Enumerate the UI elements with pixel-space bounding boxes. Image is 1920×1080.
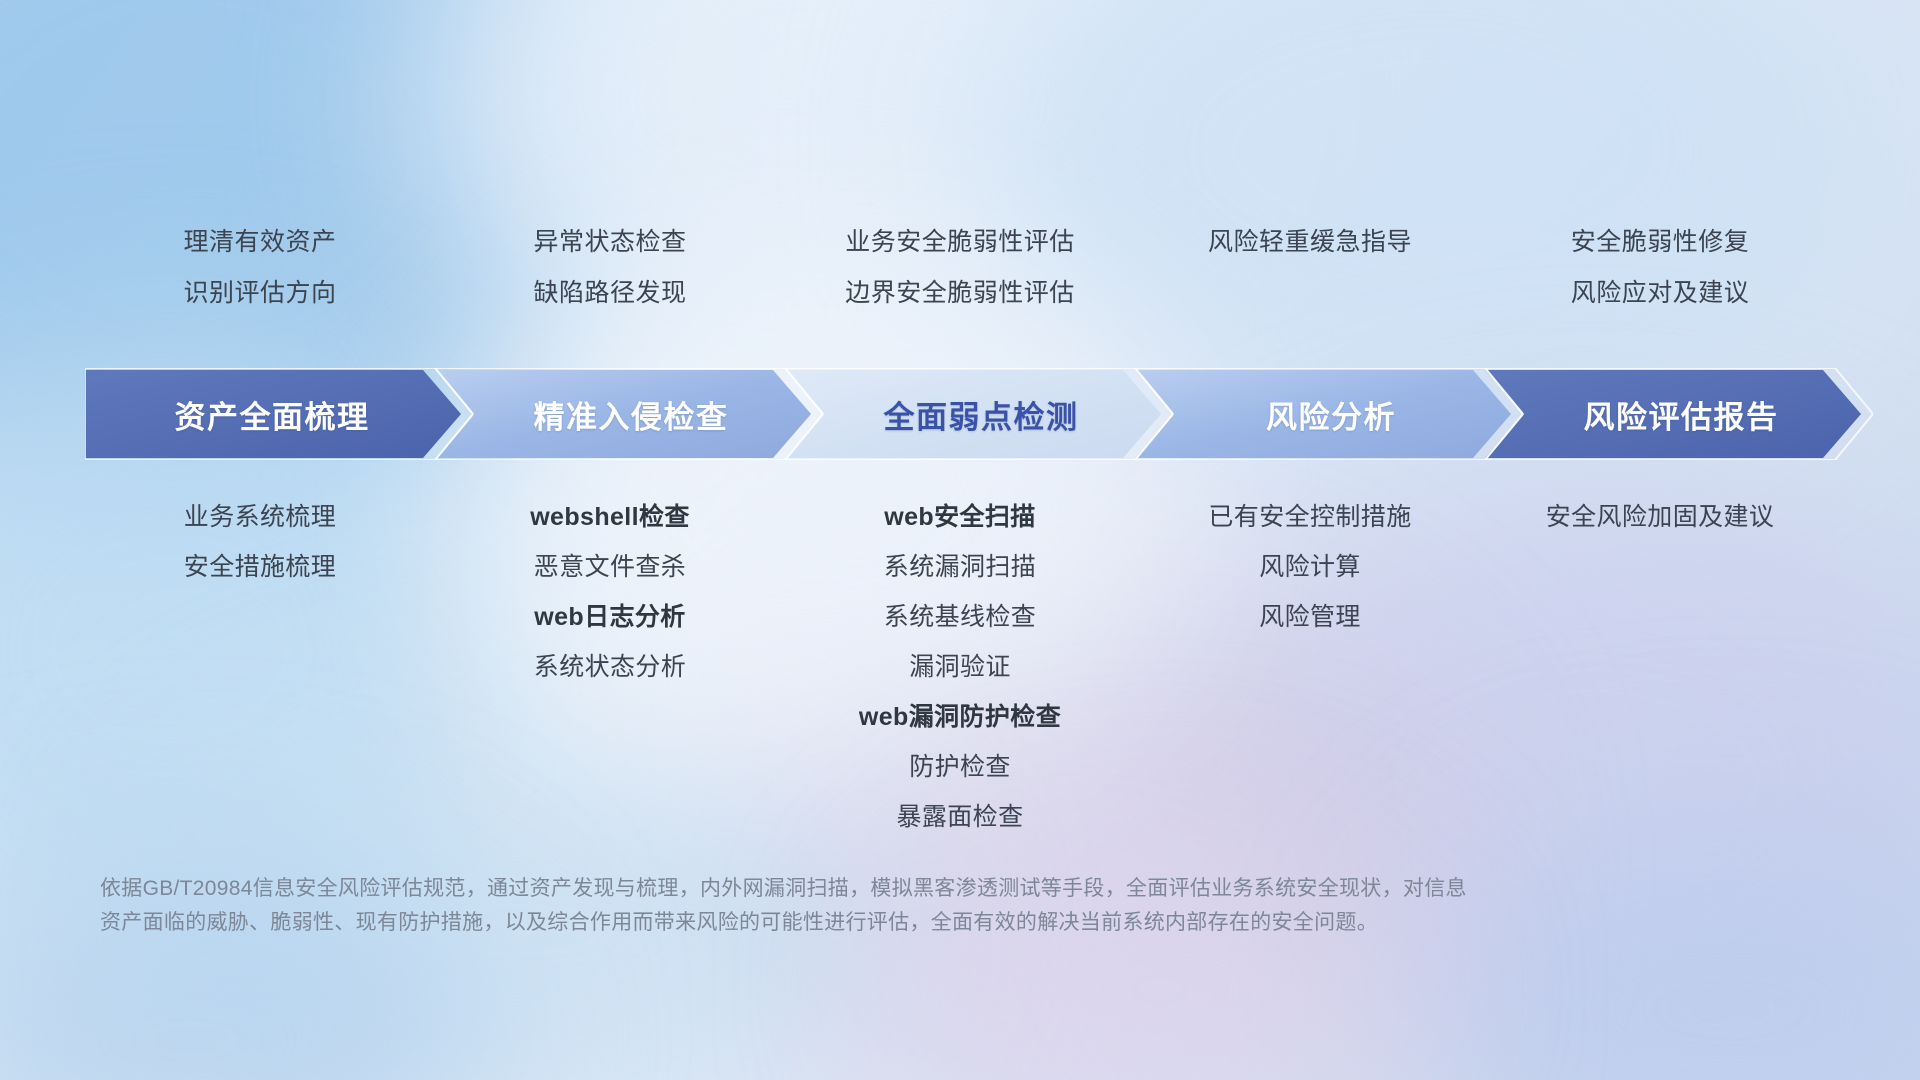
top-note: 风险应对及建议	[1571, 281, 1750, 306]
bottom-items-column: 安全风险加固及建议	[1485, 505, 1835, 855]
footer-description: 依据GB/T20984信息安全风险评估规范，通过资产发现与梳理，内外网漏洞扫描，…	[100, 872, 1740, 940]
top-note: 安全脆弱性修复	[1571, 230, 1750, 255]
process-step-label: 精准入侵检查	[534, 392, 729, 437]
process-step-label: 资产全面梳理	[175, 392, 370, 437]
bottom-item: 漏洞验证	[909, 655, 1011, 680]
process-step-label: 风险分析	[1266, 392, 1396, 437]
bottom-items-row: 业务系统梳理安全措施梳理webshell检查恶意文件查杀web日志分析系统状态分…	[85, 505, 1835, 855]
bottom-item: 恶意文件查杀	[534, 555, 686, 580]
footer-line-2: 资产面临的威胁、脆弱性、现有防护措施，以及综合作用而带来风险的可能性进行评估，全…	[100, 906, 1740, 940]
top-notes-column: 异常状态检查缺陷路径发现	[435, 230, 785, 306]
process-chevron-banner: 资产全面梳理精准入侵检查全面弱点检测风险分析风险评估报告	[85, 368, 1835, 460]
bottom-items-column: 业务系统梳理安全措施梳理	[85, 505, 435, 855]
top-note: 业务安全脆弱性评估	[845, 230, 1075, 255]
process-step-intrusion-check[interactable]: 精准入侵检查	[435, 368, 823, 460]
top-notes-column: 安全脆弱性修复风险应对及建议	[1485, 230, 1835, 306]
bottom-item: 安全措施梳理	[184, 555, 336, 580]
top-note: 缺陷路径发现	[533, 281, 686, 306]
bottom-item: web安全扫描	[884, 505, 1035, 530]
bottom-item: webshell检查	[530, 505, 690, 530]
process-step-weakness-detection[interactable]: 全面弱点检测	[785, 368, 1173, 460]
bottom-item: web漏洞防护检查	[859, 705, 1061, 730]
bottom-items-column: web安全扫描系统漏洞扫描系统基线检查漏洞验证web漏洞防护检查防护检查暴露面检…	[785, 505, 1135, 855]
bottom-item: 系统状态分析	[534, 655, 686, 680]
process-step-risk-analysis[interactable]: 风险分析	[1135, 368, 1523, 460]
process-step-risk-report[interactable]: 风险评估报告	[1485, 368, 1873, 460]
bottom-item: 风险计算	[1259, 555, 1361, 580]
top-notes-column: 业务安全脆弱性评估边界安全脆弱性评估	[785, 230, 1135, 306]
process-step-label: 风险评估报告	[1584, 392, 1779, 437]
bottom-item: 系统基线检查	[884, 605, 1036, 630]
bottom-item: 防护检查	[909, 755, 1011, 780]
top-notes-row: 理清有效资产识别评估方向异常状态检查缺陷路径发现业务安全脆弱性评估边界安全脆弱性…	[85, 230, 1835, 306]
bottom-items-column: webshell检查恶意文件查杀web日志分析系统状态分析	[435, 505, 785, 855]
top-note: 边界安全脆弱性评估	[845, 281, 1075, 306]
bottom-items-column: 已有安全控制措施风险计算风险管理	[1135, 505, 1485, 855]
process-step-label: 全面弱点检测	[884, 392, 1079, 437]
bottom-item: web日志分析	[534, 605, 685, 630]
footer-line-1: 依据GB/T20984信息安全风险评估规范，通过资产发现与梳理，内外网漏洞扫描，…	[100, 872, 1740, 906]
top-note: 识别评估方向	[183, 281, 336, 306]
top-notes-column: 风险轻重缓急指导	[1135, 230, 1485, 306]
bottom-item: 系统漏洞扫描	[884, 555, 1036, 580]
top-note: 风险轻重缓急指导	[1208, 230, 1412, 255]
bottom-item: 暴露面检查	[896, 805, 1023, 830]
top-note: 异常状态检查	[533, 230, 686, 255]
bottom-item: 业务系统梳理	[184, 505, 336, 530]
slide-canvas: 理清有效资产识别评估方向异常状态检查缺陷路径发现业务安全脆弱性评估边界安全脆弱性…	[0, 0, 1920, 1080]
process-step-asset-inventory[interactable]: 资产全面梳理	[85, 368, 473, 460]
bottom-item: 已有安全控制措施	[1208, 505, 1411, 530]
bottom-item: 安全风险加固及建议	[1546, 505, 1775, 530]
bottom-item: 风险管理	[1259, 605, 1361, 630]
top-note: 理清有效资产	[183, 230, 336, 255]
top-notes-column: 理清有效资产识别评估方向	[85, 230, 435, 306]
process-diagram: 理清有效资产识别评估方向异常状态检查缺陷路径发现业务安全脆弱性评估边界安全脆弱性…	[0, 0, 1920, 1080]
